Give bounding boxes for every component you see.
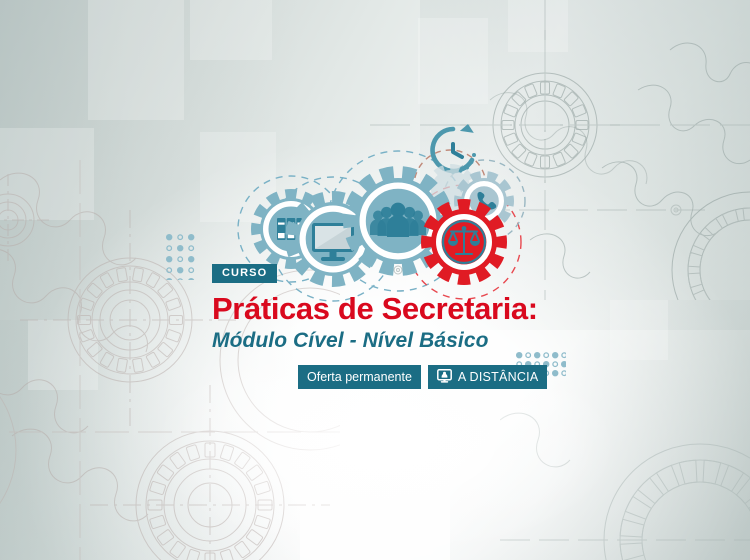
kicker-badge: CURSO [212, 264, 277, 283]
background-square [418, 18, 488, 104]
banner-text-block: CURSO Práticas de Secretaria: Módulo Cív… [212, 263, 632, 389]
page-subtitle: Módulo Cível - Nível Básico [212, 328, 632, 353]
background-square [190, 0, 272, 60]
background-square [0, 128, 94, 220]
tag-distance-label: A DISTÂNCIA [458, 371, 539, 384]
dot-grid-left [166, 234, 200, 285]
tag-row: Oferta permanente A DISTÂNCIA [212, 365, 632, 390]
course-banner: CURSO Práticas de Secretaria: Módulo Cív… [0, 0, 750, 560]
background-square [88, 0, 184, 120]
monitor-person-icon [437, 369, 452, 386]
tag-distance-learning: A DISTÂNCIA [428, 365, 548, 390]
blueprint-art-bottom-right [500, 360, 750, 560]
tag-offer-label: Oferta permanente [307, 371, 412, 384]
background-square [28, 320, 98, 390]
tag-offer: Oferta permanente [298, 365, 421, 390]
background-square [508, 0, 568, 52]
page-title: Práticas de Secretaria: [212, 292, 632, 325]
